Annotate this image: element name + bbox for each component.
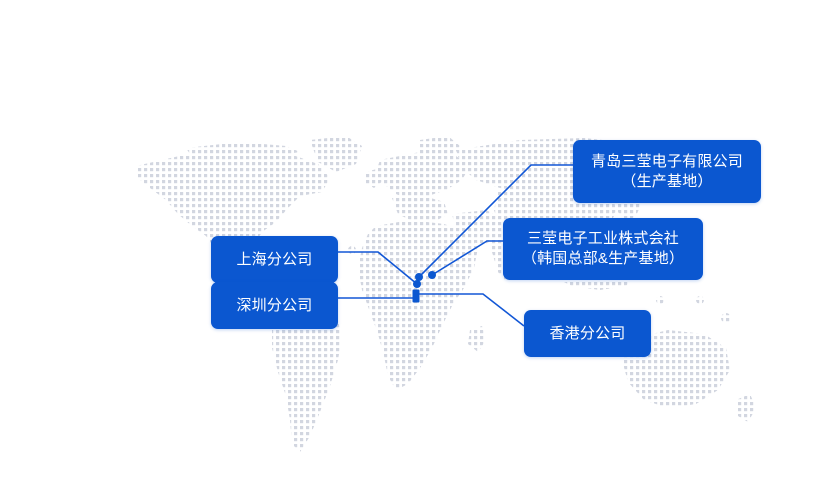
map-infographic: 青岛三莹电子有限公司 （生产基地） 三莹电子工业株式会社 （韩国总部&生产基地）…	[0, 0, 824, 480]
korea-marker[interactable]	[428, 271, 436, 279]
label-qingdao[interactable]: 青岛三莹电子有限公司 （生产基地）	[573, 140, 761, 203]
label-hongkong[interactable]: 香港分公司	[524, 310, 651, 357]
hongkong-marker[interactable]	[413, 290, 420, 303]
label-shenzhen[interactable]: 深圳分公司	[211, 282, 338, 329]
label-korea[interactable]: 三莹电子工业株式会社 （韩国总部&生产基地）	[503, 218, 703, 280]
shanghai-marker[interactable]	[413, 280, 421, 288]
label-shanghai[interactable]: 上海分公司	[211, 236, 338, 283]
